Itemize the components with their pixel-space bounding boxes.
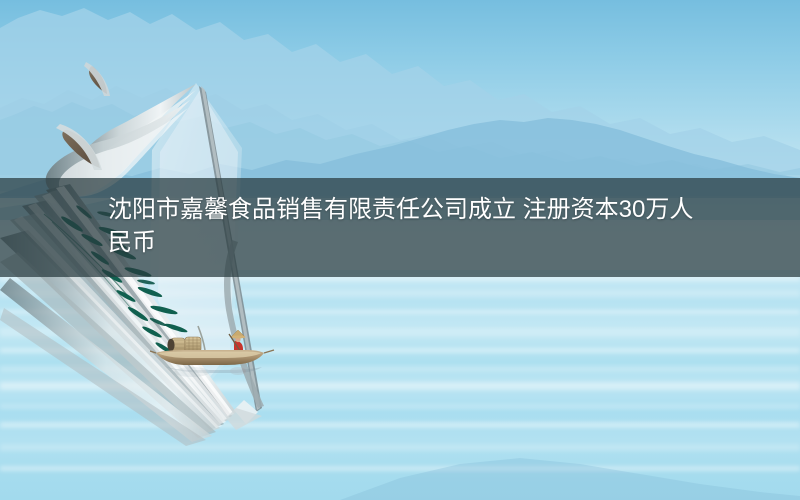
page-title: 沈阳市嘉馨食品销售有限责任公司成立 注册资本30万人民币 xyxy=(108,193,708,259)
boat-illustration xyxy=(150,320,280,395)
article-banner: 沈阳市嘉馨食品销售有限责任公司成立 注册资本30万人民币 xyxy=(0,0,800,500)
